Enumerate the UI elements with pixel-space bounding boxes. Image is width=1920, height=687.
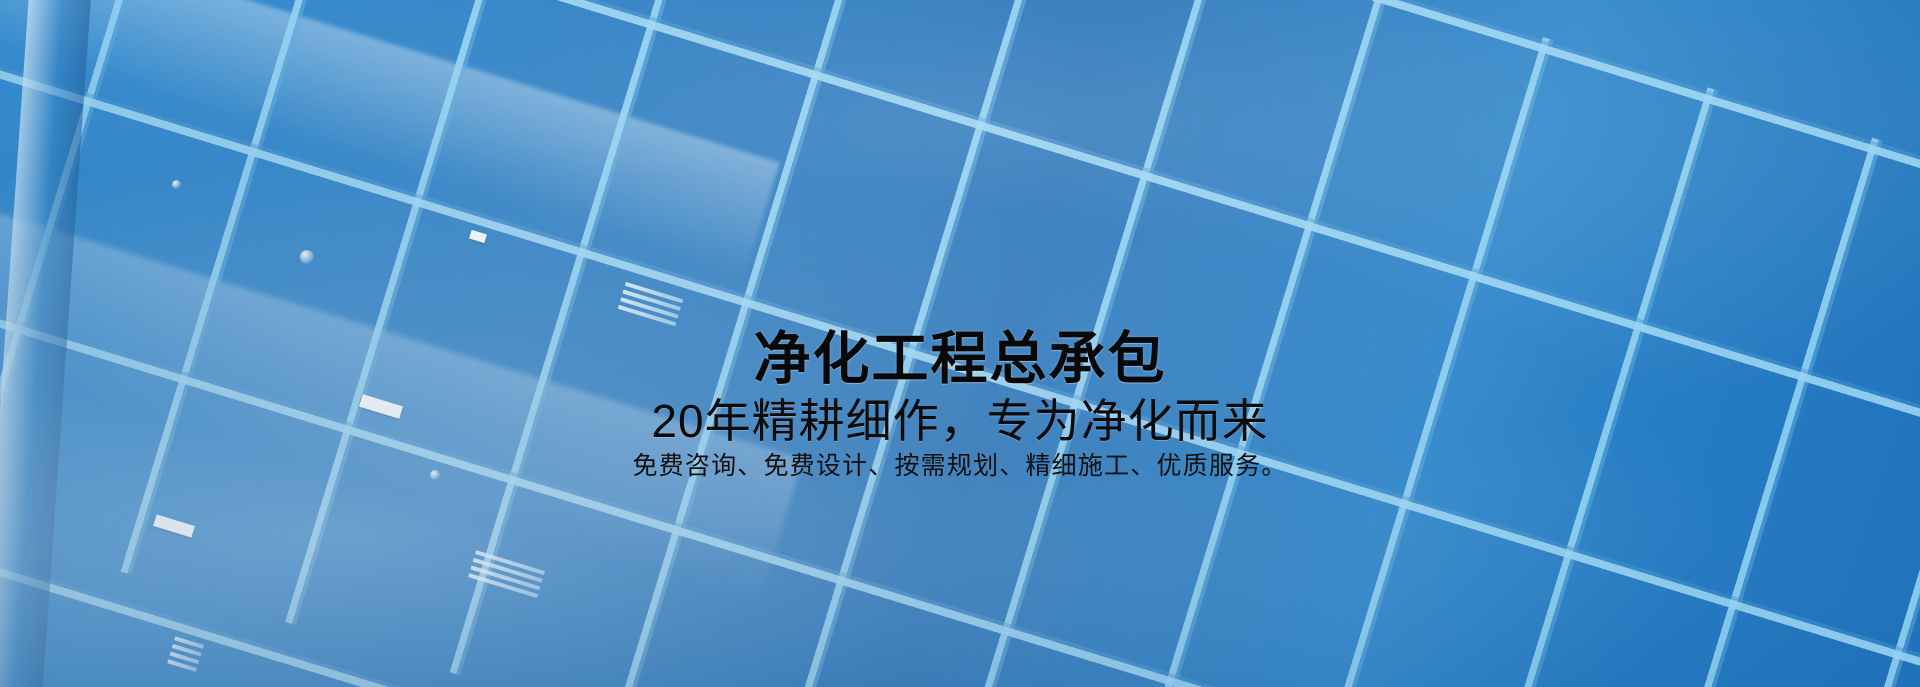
- right-facade-shading: [0, 0, 700, 687]
- right-glass-facade: [0, 0, 700, 687]
- hero-banner: 净化工程总承包 20年精耕细作，专为净化而来 免费咨询、免费设计、按需规划、精细…: [0, 0, 1920, 687]
